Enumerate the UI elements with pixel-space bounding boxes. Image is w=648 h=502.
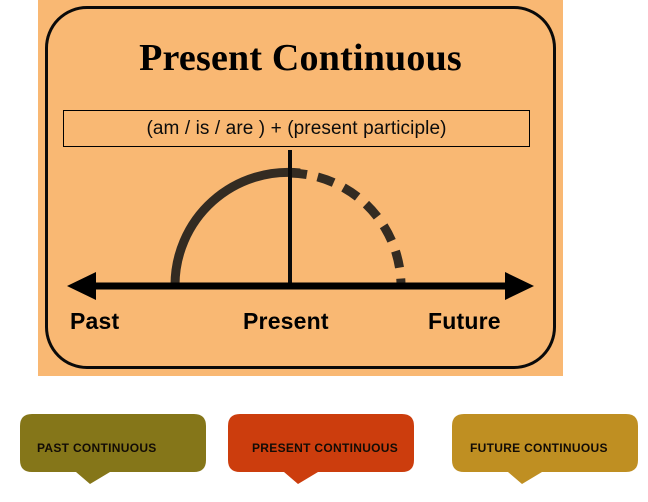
past-arrowhead-icon [67, 272, 96, 300]
bubble-label-past-continuous: PAST CONTINUOUS [37, 441, 157, 455]
tense-card: Present Continuous (am / is / are ) + (p… [38, 0, 563, 376]
page-title: Present Continuous [38, 36, 563, 80]
future-arrowhead-icon [505, 272, 534, 300]
bubble-label-future-continuous: FUTURE CONTINUOUS [470, 441, 608, 455]
arc-dashed-segment [290, 173, 401, 285]
tense-bubble-present-continuous[interactable]: PRESENT CONTINUOUS [228, 414, 414, 484]
timeline-label-past: Past [70, 308, 119, 335]
tense-bubble-future-continuous[interactable]: FUTURE CONTINUOUS [452, 414, 638, 484]
tense-bubble-past-continuous[interactable]: PAST CONTINUOUS [20, 414, 206, 484]
bubble-label-present-continuous: PRESENT CONTINUOUS [252, 441, 398, 455]
timeline-label-present: Present [243, 308, 329, 335]
timeline-diagram [38, 140, 563, 305]
timeline-label-future: Future [428, 308, 501, 335]
arc-solid-segment [175, 172, 300, 285]
formula-text: (am / is / are ) + (present participle) [146, 118, 446, 140]
